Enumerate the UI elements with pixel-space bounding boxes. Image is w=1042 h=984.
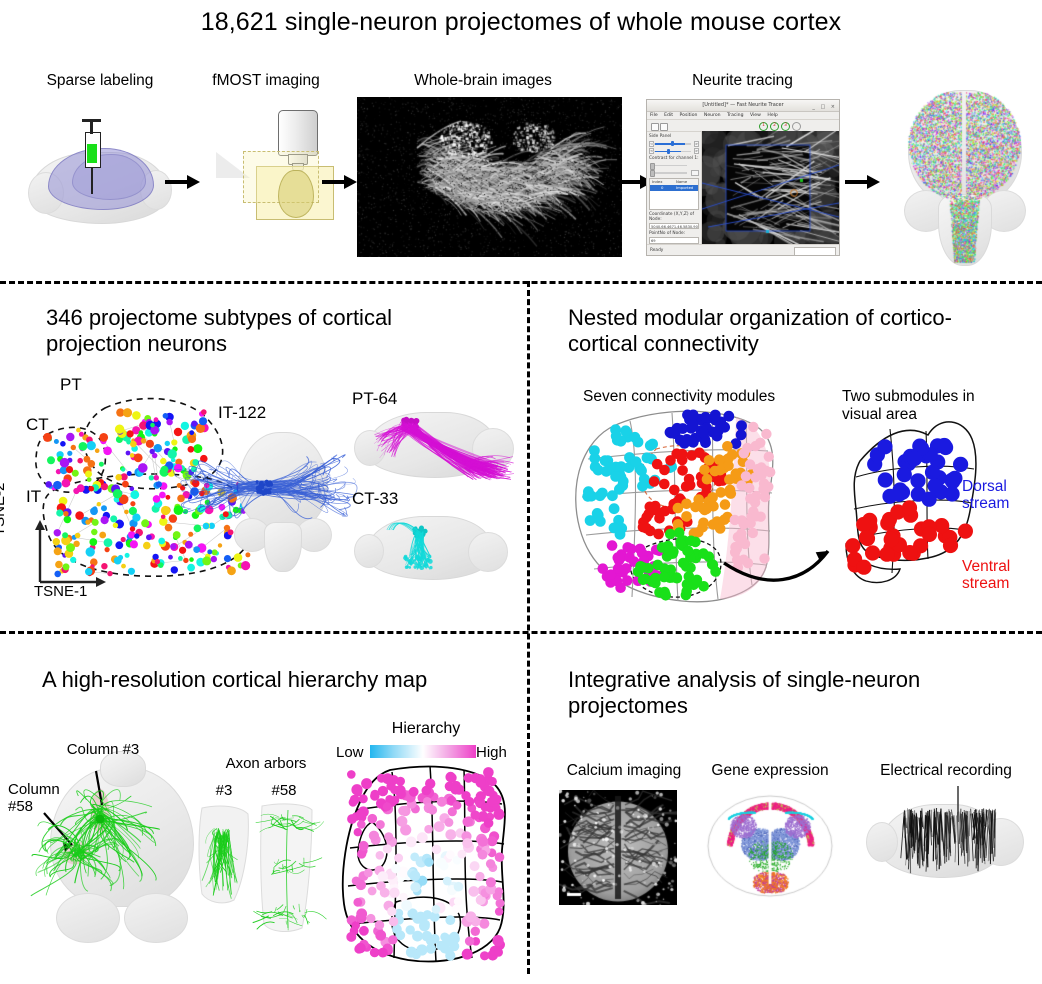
cell-name: Imported — [676, 185, 693, 191]
submodule-label-dorsal: Dorsal stream — [962, 478, 1042, 512]
integrative-label-ephys: Electrical recording — [858, 762, 1034, 780]
example-brain-pt64: PT-64 — [348, 390, 526, 490]
column-label-3: Column #3 — [58, 741, 148, 758]
syringe-brain-icon — [28, 118, 178, 238]
panel-title-subtypes: 346 projectome subtypes of cortical proj… — [46, 305, 486, 357]
integrative-label-calcium: Calcium imaging — [554, 762, 694, 780]
side-panel[interactable]: Side Panel < > < > Contrast for channel … — [647, 131, 702, 244]
menu-item-tracing[interactable]: Tracing — [727, 113, 743, 118]
tsne-cluster-label-it: IT — [26, 488, 41, 505]
tsne-axis-label-x: TSNE-1 — [34, 583, 87, 600]
channel-1-badge[interactable]: 1 — [759, 122, 768, 131]
delete-tool-icon[interactable] — [729, 123, 735, 129]
menu-item-position[interactable]: Position — [680, 113, 698, 118]
panel-title-hierarchy: A high-resolution cortical hierarchy map — [42, 667, 502, 693]
graphical-abstract: 18,621 single-neuron projectomes of whol… — [0, 0, 1042, 974]
submodule-dorsal-text: Dorsal stream — [962, 478, 1009, 512]
side-panel-title: Side Panel — [649, 134, 699, 139]
tracing-canvas[interactable] — [702, 131, 839, 244]
panel-title-integrative: Integrative analysis of single-neuron pr… — [568, 667, 1018, 719]
submodule-label-ventral: Ventral stream — [962, 558, 1042, 592]
slice-slider[interactable]: < > — [649, 148, 699, 154]
pointno-value-field[interactable]: 69 — [649, 237, 699, 244]
neuron-list-table[interactable]: Index Name 0 Imported — [649, 178, 699, 210]
window-title: [Untitled]* — Fast Neurite Tracer — [702, 102, 783, 108]
settings-gear-icon[interactable] — [792, 122, 801, 131]
trace-tool-icon[interactable] — [705, 123, 711, 129]
figure-title: 18,621 single-neuron projectomes of whol… — [0, 8, 1042, 37]
menu-item-file[interactable]: File — [650, 113, 658, 118]
hierarchy-flatmap — [336, 762, 522, 970]
tsne-cluster-label-pt: PT — [60, 376, 82, 393]
menu-item-neuron[interactable]: Neuron — [704, 113, 721, 118]
colorbar-gradient — [370, 745, 476, 758]
pipeline-step-label-neurite-tracing: Neurite tracing — [640, 72, 845, 90]
column-label-58: Column #58 — [8, 781, 88, 815]
menu-bar[interactable]: File Edit Position Neuron Tracing View H… — [647, 111, 839, 120]
pipeline-step-label-sparse-labeling: Sparse labeling — [20, 72, 180, 90]
menu-item-help[interactable]: Help — [767, 113, 777, 118]
whole-brain-projectome-render — [890, 82, 1040, 267]
fluorescence-image — [357, 97, 622, 257]
divider-horizontal-bottom — [0, 631, 1042, 634]
channel-2-badge[interactable]: 2 — [770, 122, 779, 131]
channel-3-badge[interactable]: 3 — [781, 122, 790, 131]
edit-tool-icon[interactable] — [717, 123, 723, 129]
coordinate-value-field[interactable]: 5040.66,4671.46,5830.90 — [649, 223, 699, 230]
electrode-brain-render — [862, 782, 1032, 907]
contrast-slider-min[interactable] — [649, 162, 699, 168]
panel-title-modules: Nested modular organization of cortico-c… — [568, 305, 1018, 357]
status-progress-box — [794, 247, 836, 256]
example-brain-ct33: CT-33 — [348, 490, 526, 600]
divider-horizontal-top — [0, 281, 1042, 284]
modules-left-label: Seven connectivity modules — [583, 388, 863, 406]
fast-neurite-tracer-window[interactable]: [Untitled]* — Fast Neurite Tracer _ □ × … — [646, 99, 840, 256]
contrast-slider-max[interactable] — [649, 170, 699, 176]
axon-arbors-label: Axon arbors — [196, 755, 336, 772]
redo-icon[interactable] — [682, 123, 688, 129]
hierarchy-colorbar: Hierarchy Low High — [336, 722, 516, 764]
menu-item-view[interactable]: View — [750, 113, 761, 118]
tsne-cluster-label-ct: CT — [26, 416, 49, 433]
example-brain-it122: IT-122 — [212, 400, 352, 575]
status-bar: Ready — [647, 244, 839, 255]
ish-coronal-section — [690, 782, 850, 907]
microscope-objective-icon — [200, 104, 370, 244]
divider-vertical — [527, 281, 530, 974]
axon-arbors-group: Axon arbors #3 #58 — [196, 760, 336, 940]
open-file-icon[interactable] — [660, 123, 668, 131]
colorbar-high-label: High — [476, 744, 507, 761]
submodule-ventral-text: Ventral stream — [962, 558, 1010, 592]
undo-icon[interactable] — [673, 123, 679, 129]
contrast-label: Contrast for channel 1: — [649, 156, 699, 161]
pipeline-step-label-whole-brain-images: Whole-brain images — [368, 72, 598, 90]
coordinate-label: Coordinate (X,Y,Z) of Node: — [649, 212, 699, 222]
cortical-window-image — [559, 790, 677, 905]
integrative-label-gene: Gene expression — [700, 762, 840, 780]
refresh-icon[interactable] — [691, 123, 697, 129]
menu-item-edit[interactable]: Edit — [664, 113, 673, 118]
connect-tool-icon[interactable] — [741, 123, 747, 129]
zoom-slider[interactable]: < > — [649, 141, 699, 147]
pipeline-step-label-fmost-imaging: fMOST imaging — [186, 72, 346, 90]
tsne-axis-label-y: TSNE-2 — [0, 483, 8, 536]
colorbar-low-label: Low — [336, 744, 364, 761]
status-text: Ready — [650, 248, 663, 253]
new-file-icon[interactable] — [651, 123, 659, 131]
arbor-id-3: #3 — [204, 782, 244, 799]
arbor-id-58: #58 — [262, 782, 306, 799]
pointno-label: PointNo of Node: — [649, 231, 699, 236]
table-row[interactable]: 0 Imported — [650, 185, 698, 191]
colorbar-title: Hierarchy — [336, 720, 516, 737]
cell-index: 0 — [661, 185, 663, 191]
